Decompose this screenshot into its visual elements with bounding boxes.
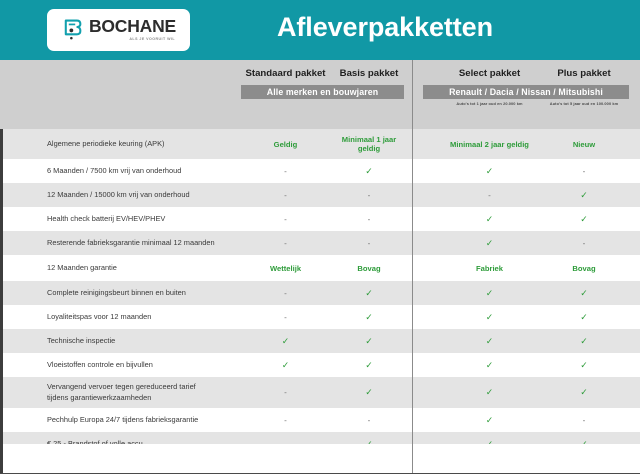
dash-marker: - <box>583 416 586 425</box>
row-cell: ✓ <box>442 415 537 426</box>
row-cell: ✓ <box>442 288 537 299</box>
row-cell: - <box>540 416 628 425</box>
page-header: BOCHANE ALS JE VOORUIT WIL Afleverpakket… <box>0 0 640 60</box>
check-icon: ✓ <box>486 387 494 397</box>
row-cell: ✓ <box>442 336 537 347</box>
row-cell: Minimaal 1 jaar geldig <box>334 135 404 153</box>
row-cell: Bovag <box>334 264 404 273</box>
table-left-edge <box>0 129 3 453</box>
row-cell: Bovag <box>540 264 628 273</box>
check-icon: ✓ <box>580 288 588 298</box>
table-row: 12 Maanden / 15000 km vrij van onderhoud… <box>0 183 640 207</box>
check-icon: ✓ <box>486 166 494 176</box>
check-icon: ✓ <box>365 387 373 397</box>
dash-marker: - <box>368 239 371 248</box>
row-cell: Wettelijk <box>237 264 334 273</box>
check-icon: ✓ <box>486 288 494 298</box>
row-label: 6 Maanden / 7500 km vrij van onderhoud <box>47 166 181 177</box>
row-cell: - <box>237 239 334 248</box>
check-icon: ✓ <box>365 166 373 176</box>
row-cell: ✓ <box>442 166 537 177</box>
table-row: Complete reinigingsbeurt binnen en buite… <box>0 281 640 305</box>
row-cell: ✓ <box>237 360 334 371</box>
row-cell: ✓ <box>237 336 334 347</box>
row-label: Algemene periodieke keuring (APK) <box>47 139 165 150</box>
row-cell: Minimaal 2 jaar geldig <box>442 140 537 149</box>
value-text: Fabriek <box>476 264 503 273</box>
row-cell: - <box>334 215 404 224</box>
dash-marker: - <box>284 416 287 425</box>
table-row: Pechhulp Europa 24/7 tijdens fabrieksgar… <box>0 408 640 432</box>
footer-left-edge <box>0 444 3 474</box>
brand-band-left: Alle merken en bouwjaren <box>241 85 404 99</box>
check-icon: ✓ <box>580 360 588 370</box>
column-header-band: Standaard pakket Basis pakket Select pak… <box>0 60 640 129</box>
row-cell: ✓ <box>442 312 537 323</box>
row-cell: - <box>237 167 334 176</box>
check-icon: ✓ <box>365 312 373 322</box>
table-footer-strip <box>0 444 640 474</box>
table-row: Loyaliteitspas voor 12 maanden-✓✓✓ <box>0 305 640 329</box>
check-icon: ✓ <box>580 214 588 224</box>
value-text: Minimaal 2 jaar geldig <box>450 140 529 149</box>
check-icon: ✓ <box>486 336 494 346</box>
row-cell: - <box>540 239 628 248</box>
row-cell: ✓ <box>334 312 404 323</box>
row-cell: - <box>334 239 404 248</box>
page-title: Afleverpakketten <box>0 12 640 43</box>
dash-marker: - <box>284 191 287 200</box>
row-cell: - <box>237 191 334 200</box>
row-cell: - <box>237 388 334 397</box>
check-icon: ✓ <box>365 336 373 346</box>
row-cell: ✓ <box>540 288 628 299</box>
dash-marker: - <box>284 289 287 298</box>
row-cell: - <box>442 191 537 200</box>
check-icon: ✓ <box>486 238 494 248</box>
dash-marker: - <box>488 191 491 200</box>
value-text: Geldig <box>274 140 298 149</box>
row-cell: - <box>334 416 404 425</box>
check-icon: ✓ <box>580 387 588 397</box>
check-icon: ✓ <box>486 415 494 425</box>
table-row: Vloeistoffen controle en bijvullen✓✓✓✓ <box>0 353 640 377</box>
check-icon: ✓ <box>282 336 290 346</box>
row-cell: - <box>334 191 404 200</box>
check-icon: ✓ <box>365 360 373 370</box>
row-cell: ✓ <box>334 387 404 398</box>
value-text: Bovag <box>357 264 380 273</box>
table-row: Vervangend vervoer tegen gereduceerd tar… <box>0 377 640 408</box>
row-cell: ✓ <box>334 288 404 299</box>
row-label: Vloeistoffen controle en bijvullen <box>47 360 153 371</box>
dash-marker: - <box>583 239 586 248</box>
row-label: Vervangend vervoer tegen gereduceerd tar… <box>47 382 196 403</box>
dash-marker: - <box>368 416 371 425</box>
dash-marker: - <box>284 313 287 322</box>
package-note-plus: Auto's tot 5 jaar oud en 100.000 km <box>534 101 634 106</box>
value-text: Minimaal 1 jaar geldig <box>342 135 396 153</box>
row-cell: ✓ <box>540 190 628 201</box>
dash-marker: - <box>368 215 371 224</box>
row-cell: - <box>237 313 334 322</box>
check-icon: ✓ <box>580 336 588 346</box>
row-cell: ✓ <box>334 360 404 371</box>
check-icon: ✓ <box>580 190 588 200</box>
dash-marker: - <box>583 167 586 176</box>
row-cell: ✓ <box>334 166 404 177</box>
table-row: Technische inspectie✓✓✓✓ <box>0 329 640 353</box>
row-cell: ✓ <box>540 336 628 347</box>
value-text: Bovag <box>572 264 595 273</box>
row-cell: ✓ <box>442 387 537 398</box>
check-icon: ✓ <box>486 312 494 322</box>
check-icon: ✓ <box>486 360 494 370</box>
row-cell: ✓ <box>540 387 628 398</box>
row-cell: ✓ <box>442 360 537 371</box>
table-rows: Algemene periodieke keuring (APK)GeldigM… <box>0 129 640 456</box>
package-title-plus[interactable]: Plus pakket <box>540 68 628 79</box>
row-cell: - <box>540 167 628 176</box>
row-label: Complete reinigingsbeurt binnen en buite… <box>47 288 186 299</box>
row-label: Health check batterij EV/HEV/PHEV <box>47 214 165 225</box>
table-row: 12 Maanden garantieWettelijkBovagFabriek… <box>0 255 640 281</box>
afleverpakketten-page: BOCHANE ALS JE VOORUIT WIL Afleverpakket… <box>0 0 640 453</box>
row-label: Pechhulp Europa 24/7 tijdens fabrieksgar… <box>47 415 198 426</box>
row-label: 12 Maanden / 15000 km vrij van onderhoud <box>47 190 190 201</box>
value-text: Nieuw <box>573 140 595 149</box>
brand-band-right: Renault / Dacia / Nissan / Mitsubishi <box>423 85 629 99</box>
row-label: Loyaliteitspas voor 12 maanden <box>47 312 151 323</box>
row-label: Technische inspectie <box>47 336 115 347</box>
dash-marker: - <box>284 239 287 248</box>
package-note-select: Auto's tot 1 jaar oud en 20.000 km <box>437 101 542 106</box>
table-row: Health check batterij EV/HEV/PHEV--✓✓ <box>0 207 640 231</box>
row-cell: Fabriek <box>442 264 537 273</box>
row-cell: ✓ <box>334 336 404 347</box>
table-row: Algemene periodieke keuring (APK)GeldigM… <box>0 129 640 159</box>
package-titles: Standaard pakket Basis pakket Select pak… <box>0 68 640 82</box>
row-cell: ✓ <box>540 360 628 371</box>
row-label: Resterende fabrieksgarantie minimaal 12 … <box>47 238 215 249</box>
row-cell: ✓ <box>442 214 537 225</box>
table-group-divider <box>412 129 413 444</box>
row-cell: - <box>237 215 334 224</box>
package-title-select[interactable]: Select pakket <box>442 68 537 79</box>
package-title-basis[interactable]: Basis pakket <box>334 68 404 79</box>
footer-group-divider <box>412 444 413 474</box>
check-icon: ✓ <box>282 360 290 370</box>
row-cell: - <box>237 416 334 425</box>
check-icon: ✓ <box>365 288 373 298</box>
check-icon: ✓ <box>486 214 494 224</box>
check-icon: ✓ <box>580 312 588 322</box>
row-cell: ✓ <box>442 238 537 249</box>
package-title-standaard[interactable]: Standaard pakket <box>237 68 334 79</box>
row-label: 12 Maanden garantie <box>47 263 117 274</box>
row-cell: - <box>237 289 334 298</box>
table-row: 6 Maanden / 7500 km vrij van onderhoud-✓… <box>0 159 640 183</box>
dash-marker: - <box>284 167 287 176</box>
dash-marker: - <box>284 388 287 397</box>
row-cell: Geldig <box>237 140 334 149</box>
row-cell: ✓ <box>540 214 628 225</box>
dash-marker: - <box>368 191 371 200</box>
table-row: Resterende fabrieksgarantie minimaal 12 … <box>0 231 640 255</box>
dash-marker: - <box>284 215 287 224</box>
row-cell: ✓ <box>540 312 628 323</box>
row-cell: Nieuw <box>540 140 628 149</box>
value-text: Wettelijk <box>270 264 301 273</box>
features-table: Algemene periodieke keuring (APK)GeldigM… <box>0 129 640 453</box>
